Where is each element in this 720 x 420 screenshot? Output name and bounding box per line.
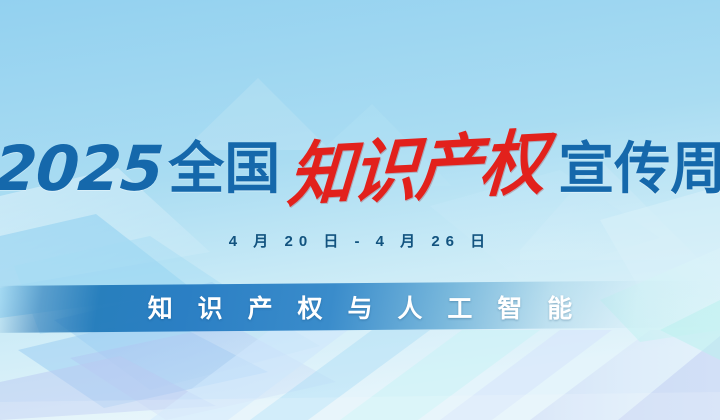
- headline-week: 宣传周: [558, 141, 720, 197]
- headline-national: 全国: [168, 141, 280, 197]
- date-range: 4 月 20 日 - 4 月 26 日: [0, 230, 720, 251]
- headline-year: 2025: [0, 138, 164, 200]
- slogan-text: 知 识 产 权 与 人 工 智 能: [0, 283, 720, 330]
- ip-week-poster: 2025 全国 知识产权 宣传周 4 月 20 日 - 4 月 26 日 知 识…: [0, 0, 720, 420]
- headline-highlight-ip: 知识产权: [286, 127, 547, 211]
- headline: 2025 全国 知识产权 宣传周: [0, 126, 720, 212]
